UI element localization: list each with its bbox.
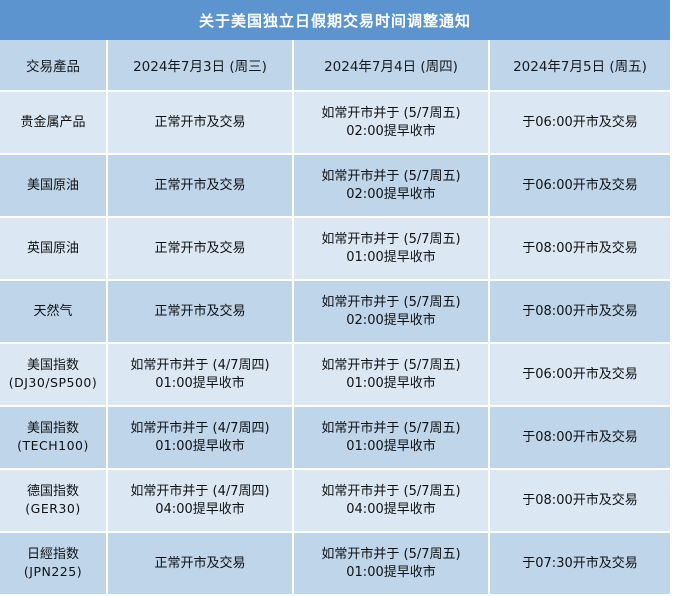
table-row: 天然气正常开市及交易如常开市并于 (5/7周五) 02:00提早收市于08:00… (0, 280, 670, 343)
table-row: 德国指数(GER30)如常开市并于 (4/7周四) 04:00提早收市如常开市并… (0, 469, 670, 532)
column-header-day3: 2024年7月5日 (周五) (489, 40, 670, 91)
product-code: (DJ30/SP500) (5, 375, 101, 392)
cell-day1: 如常开市并于 (4/7周四) 01:00提早收市 (107, 406, 293, 469)
page-title: 关于美国独立日假期交易时间调整通知 (0, 0, 670, 40)
cell-day2: 如常开市并于 (5/7周五) 01:00提早收市 (293, 532, 489, 595)
cell-product: 天然气 (0, 280, 107, 343)
cell-product: 贵金属产品 (0, 91, 107, 154)
cell-day2: 如常开市并于 (5/7周五) 02:00提早收市 (293, 91, 489, 154)
trading-hours-table: 关于美国独立日假期交易时间调整通知 交易產品 2024年7月3日 (周三) 20… (0, 0, 670, 596)
cell-day1: 如常开市并于 (4/7周四) 01:00提早收市 (107, 343, 293, 406)
table-row: 英国原油正常开市及交易如常开市并于 (5/7周五) 01:00提早收市于08:0… (0, 217, 670, 280)
cell-day3: 于08:00开市及交易 (489, 406, 670, 469)
cell-day2: 如常开市并于 (5/7周五) 01:00提早收市 (293, 406, 489, 469)
product-name: 英国原油 (5, 240, 101, 258)
product-name: 美国指数 (5, 357, 101, 375)
product-name: 德国指数 (5, 483, 101, 501)
table-row: 美国原油正常开市及交易如常开市并于 (5/7周五) 02:00提早收市于06:0… (0, 154, 670, 217)
cell-day2: 如常开市并于 (5/7周五) 01:00提早收市 (293, 217, 489, 280)
cell-product: 美国原油 (0, 154, 107, 217)
product-code: (GER30) (5, 501, 101, 518)
cell-product: 日經指数(JPN225) (0, 532, 107, 595)
cell-day3: 于08:00开市及交易 (489, 217, 670, 280)
table-body: 关于美国独立日假期交易时间调整通知 交易產品 2024年7月3日 (周三) 20… (0, 0, 670, 595)
product-name: 天然气 (5, 303, 101, 321)
cell-day1: 正常开市及交易 (107, 217, 293, 280)
cell-product: 美国指数(TECH100) (0, 406, 107, 469)
cell-day3: 于07:30开市及交易 (489, 532, 670, 595)
cell-day2: 如常开市并于 (5/7周五) 01:00提早收市 (293, 343, 489, 406)
cell-day1: 如常开市并于 (4/7周四) 04:00提早收市 (107, 469, 293, 532)
column-header-day2: 2024年7月4日 (周四) (293, 40, 489, 91)
cell-day3: 于08:00开市及交易 (489, 469, 670, 532)
cell-day3: 于06:00开市及交易 (489, 91, 670, 154)
product-name: 日經指数 (5, 546, 101, 564)
product-name: 美国指数 (5, 420, 101, 438)
cell-day3: 于06:00开市及交易 (489, 343, 670, 406)
table-row: 美国指数(DJ30/SP500)如常开市并于 (4/7周四) 01:00提早收市… (0, 343, 670, 406)
cell-day2: 如常开市并于 (5/7周五) 04:00提早收市 (293, 469, 489, 532)
cell-product: 德国指数(GER30) (0, 469, 107, 532)
table-header-row: 交易產品 2024年7月3日 (周三) 2024年7月4日 (周四) 2024年… (0, 40, 670, 91)
cell-product: 英国原油 (0, 217, 107, 280)
table-row: 日經指数(JPN225)正常开市及交易如常开市并于 (5/7周五) 01:00提… (0, 532, 670, 595)
cell-day1: 正常开市及交易 (107, 280, 293, 343)
cell-day1: 正常开市及交易 (107, 532, 293, 595)
cell-day3: 于06:00开市及交易 (489, 154, 670, 217)
product-name: 贵金属产品 (5, 114, 101, 132)
table-row: 美国指数(TECH100)如常开市并于 (4/7周四) 01:00提早收市如常开… (0, 406, 670, 469)
table-row: 贵金属产品正常开市及交易如常开市并于 (5/7周五) 02:00提早收市于06:… (0, 91, 670, 154)
column-header-product: 交易產品 (0, 40, 107, 91)
product-name: 美国原油 (5, 177, 101, 195)
cell-day1: 正常开市及交易 (107, 91, 293, 154)
cell-day2: 如常开市并于 (5/7周五) 02:00提早收市 (293, 280, 489, 343)
cell-day1: 正常开市及交易 (107, 154, 293, 217)
cell-day2: 如常开市并于 (5/7周五) 02:00提早收市 (293, 154, 489, 217)
cell-product: 美国指数(DJ30/SP500) (0, 343, 107, 406)
column-header-day1: 2024年7月3日 (周三) (107, 40, 293, 91)
cell-day3: 于08:00开市及交易 (489, 280, 670, 343)
product-code: (JPN225) (5, 564, 101, 581)
table-title-bar: 关于美国独立日假期交易时间调整通知 (0, 0, 670, 40)
product-code: (TECH100) (5, 438, 101, 455)
